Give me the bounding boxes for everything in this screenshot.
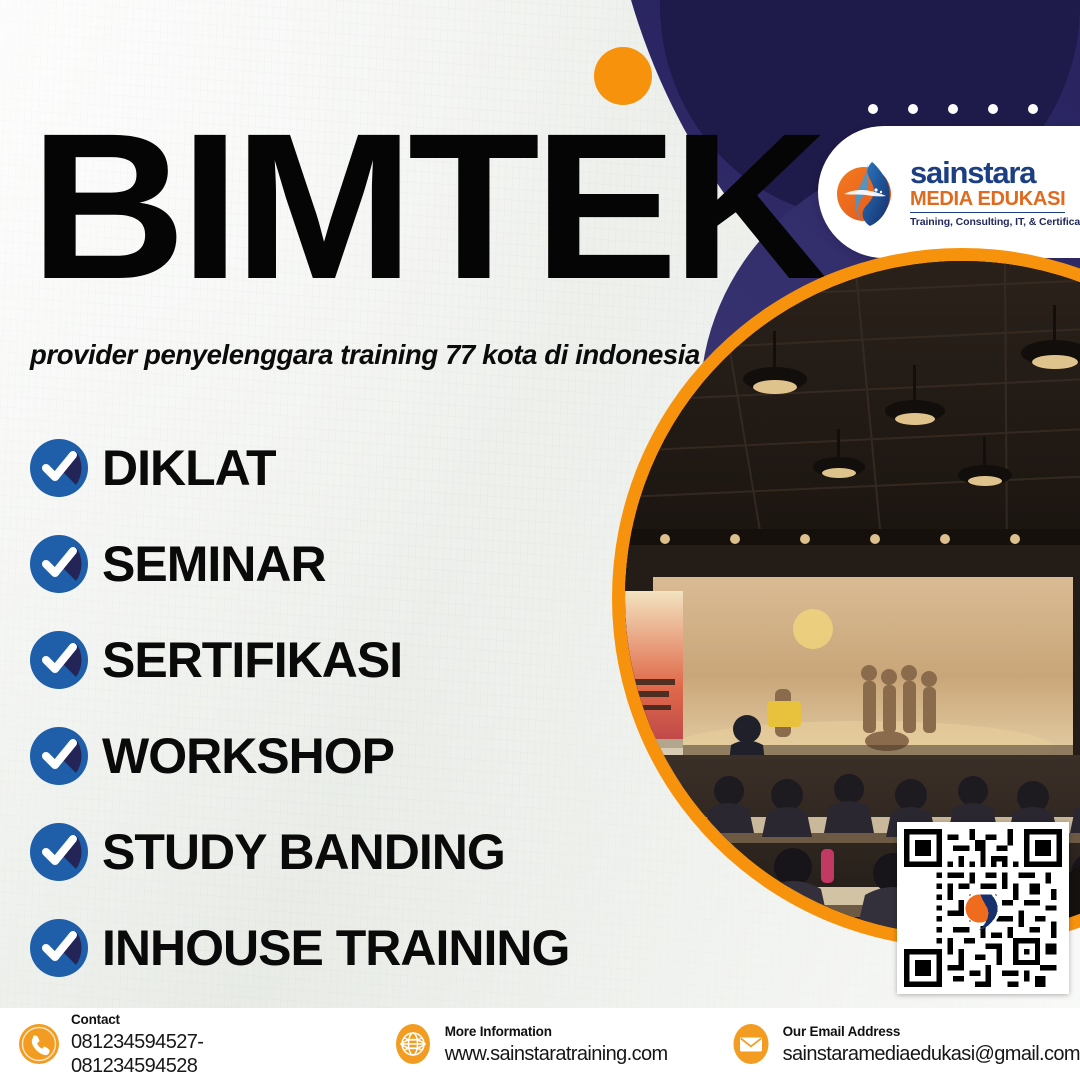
footer-label: Our Email Address bbox=[783, 1024, 901, 1039]
footer-item-website[interactable]: More Information www.sainstaratraining.c… bbox=[392, 1023, 668, 1066]
check-circle-icon bbox=[28, 533, 90, 595]
brand-name: sainstara bbox=[910, 155, 1035, 190]
check-circle-icon bbox=[28, 725, 90, 787]
list-item-label: WORKSHOP bbox=[102, 727, 394, 785]
dot-icon bbox=[1028, 104, 1038, 114]
sainstara-flame-logo-icon bbox=[832, 154, 904, 230]
list-item: STUDY BANDING bbox=[28, 804, 628, 900]
page-title: BIMTEK bbox=[30, 118, 822, 297]
brand-division: MEDIA EDUKASI bbox=[910, 189, 1065, 213]
footer-value: 081234594527-081234594528 bbox=[71, 1030, 318, 1078]
list-item: DIKLAT bbox=[28, 420, 628, 516]
list-item: WORKSHOP bbox=[28, 708, 628, 804]
brand-tagline: Training, Consulting, IT, & Certificatio… bbox=[910, 216, 1080, 228]
footer-value: sainstaramediaedukasi@gmail.com bbox=[783, 1042, 1080, 1066]
list-item-label: DIKLAT bbox=[102, 439, 276, 497]
check-circle-icon bbox=[28, 821, 90, 883]
dot-icon bbox=[988, 104, 998, 114]
brand-logo-text: sainstara MEDIA EDUKASI Training, Consul… bbox=[910, 157, 1080, 228]
dot-icon bbox=[948, 104, 958, 114]
list-item-label: INHOUSE TRAINING bbox=[102, 919, 569, 977]
footer-text-contact: Contact 081234594527-081234594528 bbox=[71, 1011, 318, 1078]
dot-icon bbox=[868, 104, 878, 114]
poster-canvas: sainstara MEDIA EDUKASI Training, Consul… bbox=[0, 0, 1080, 1080]
globe-icon bbox=[392, 1023, 434, 1065]
footer-item-email[interactable]: Our Email Address sainstaramediaedukasi@… bbox=[730, 1023, 1080, 1066]
check-circle-icon bbox=[28, 917, 90, 979]
list-item: SERTIFIKASI bbox=[28, 612, 628, 708]
footer-text-email: Our Email Address sainstaramediaedukasi@… bbox=[783, 1023, 1080, 1066]
list-item: INHOUSE TRAINING bbox=[28, 900, 628, 996]
envelope-icon bbox=[730, 1023, 772, 1065]
service-list: DIKLAT SEMINAR SERTIFIKASI bbox=[28, 420, 628, 996]
contact-footer: Contact 081234594527-081234594528 More I… bbox=[0, 1008, 1080, 1080]
dot-icon bbox=[908, 104, 918, 114]
check-circle-icon bbox=[28, 437, 90, 499]
footer-label: More Information bbox=[445, 1024, 552, 1039]
footer-value: www.sainstaratraining.com bbox=[445, 1042, 668, 1066]
brand-logo-badge: sainstara MEDIA EDUKASI Training, Consul… bbox=[818, 126, 1080, 258]
footer-item-contact[interactable]: Contact 081234594527-081234594528 bbox=[18, 1011, 318, 1078]
list-item-label: STUDY BANDING bbox=[102, 823, 505, 881]
footer-label: Contact bbox=[71, 1012, 120, 1027]
page-subtitle: provider penyelenggara training 77 kota … bbox=[30, 339, 700, 371]
list-item-label: SERTIFIKASI bbox=[102, 631, 402, 689]
phone-icon bbox=[18, 1023, 60, 1065]
list-item-label: SEMINAR bbox=[102, 535, 326, 593]
decorative-dot-row bbox=[868, 104, 1038, 114]
check-circle-icon bbox=[28, 629, 90, 691]
footer-text-website: More Information www.sainstaratraining.c… bbox=[445, 1023, 668, 1066]
list-item: SEMINAR bbox=[28, 516, 628, 612]
qr-code[interactable] bbox=[897, 822, 1069, 994]
